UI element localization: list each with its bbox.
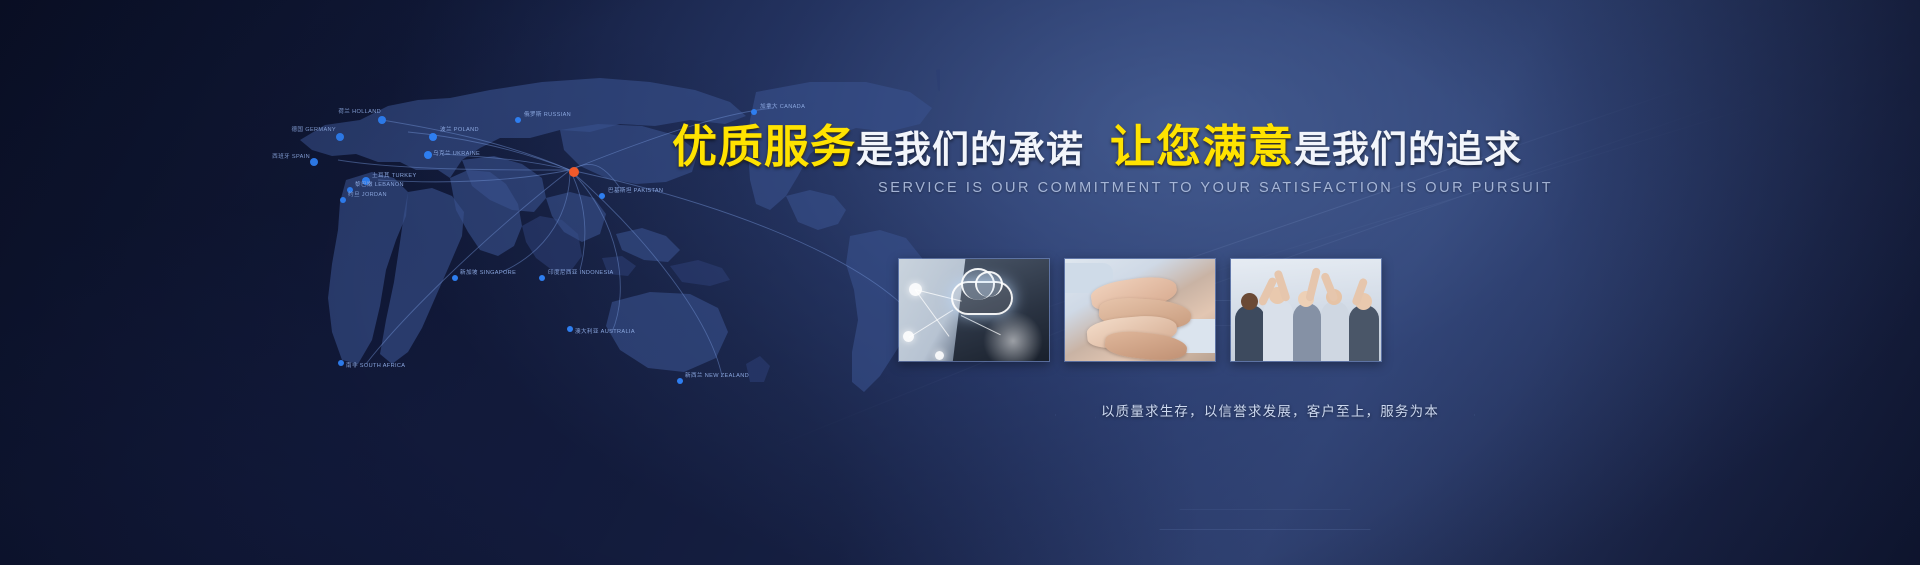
- map-continents: [300, 64, 940, 392]
- map-label-turkey: 土耳其 TURKEY: [372, 171, 417, 179]
- map-label-lebanon: 黎巴嫩 LEBANON: [355, 180, 404, 188]
- map-label-ukraine: 乌克兰 UKRAINE: [433, 149, 480, 157]
- map-label-singapore: 新加坡 SINGAPORE: [460, 268, 516, 276]
- map-label-holland: 荷兰 HOLLAND: [338, 107, 381, 115]
- map-label-germany: 德国 GERMANY: [291, 125, 336, 133]
- map-label-spain: 西班牙 SPAIN: [272, 152, 310, 160]
- map-label-pakistan: 巴基斯坦 PAKISTAN: [608, 186, 663, 194]
- photo-team-highfive: [1230, 258, 1382, 362]
- subtitle-english: SERVICE IS OUR COMMITMENT TO YOUR SATISF…: [878, 180, 1553, 196]
- map-label-southafrica: 南非 SOUTH AFRICA: [346, 361, 405, 369]
- headline-highlight-1: 优质服务: [672, 121, 856, 172]
- map-label-australia: 澳大利亚 AUSTRALIA: [575, 327, 635, 335]
- headline-plain-1: 是我们的承诺: [856, 129, 1084, 170]
- headline-highlight-2: 让您满意: [1110, 121, 1294, 172]
- map-label-poland: 波兰 POLAND: [440, 125, 479, 133]
- bottom-tagline: 以质量求生存，以信誉求发展，客户至上，服务为本: [990, 400, 1550, 420]
- map-label-indonesia: 印度尼西亚 INDONESIA: [548, 268, 614, 276]
- map-label-jordan: 约旦 JORDAN: [348, 190, 387, 198]
- map-label-canada: 加拿大 CANADA: [760, 102, 805, 110]
- headline-plain-2: 是我们的追求: [1294, 129, 1522, 170]
- photo-stacked-hands: [1064, 258, 1216, 362]
- map-label-russia: 俄罗斯 RUSSIAN: [524, 110, 571, 118]
- photo-strip: [898, 258, 1382, 362]
- world-map: 荷兰 HOLLAND德国 GERMANY波兰 POLAND乌克兰 UKRAINE…: [150, 20, 940, 440]
- photo-cloud-network: [898, 258, 1050, 362]
- headline: 优质服务是我们的承诺让您满意是我们的追求: [672, 124, 1522, 169]
- banner-stage: 荷兰 HOLLAND德国 GERMANY波兰 POLAND乌克兰 UKRAINE…: [0, 0, 1920, 565]
- map-label-newzealand: 新西兰 NEW ZEALAND: [685, 371, 749, 379]
